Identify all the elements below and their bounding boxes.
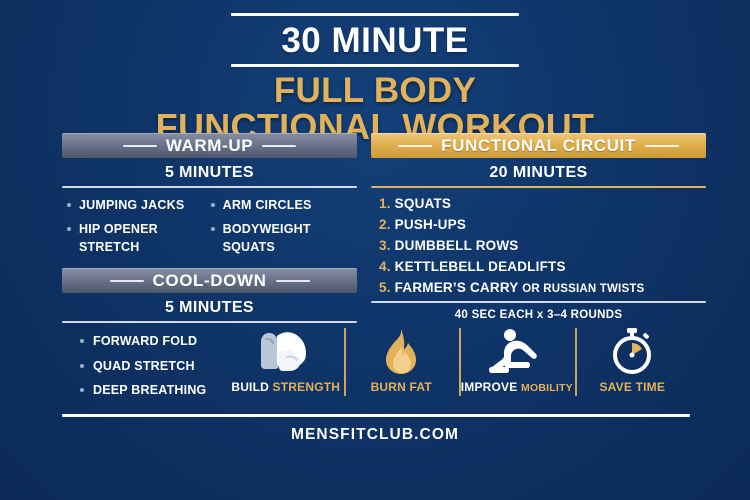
- dash-left-icon: [110, 280, 144, 282]
- benefit-label-first: IMPROVE: [461, 380, 518, 394]
- benefit-label-first: BUILD: [231, 380, 269, 394]
- dash-left-icon: [123, 145, 157, 147]
- stretching-person-icon: [486, 326, 548, 376]
- circuit-header-bar: FUNCTIONAL CIRCUIT: [371, 133, 706, 158]
- circuit-list: 1.SQUATS 2.PUSH-UPS 3.DUMBBELL ROWS 4.KE…: [371, 188, 706, 295]
- list-item: 4.KETTLEBELL DEADLIFTS: [379, 259, 706, 274]
- list-item: 5.FARMER’S CARRY OR RUSSIAN TWISTS: [379, 280, 706, 295]
- circuit-duration: 20 MINUTES: [371, 158, 706, 186]
- item-name: DUMBBELL ROWS: [395, 238, 519, 253]
- footer-divider: [62, 414, 690, 417]
- dash-left-icon: [398, 145, 432, 147]
- warmup-duration: 5 MINUTES: [62, 158, 357, 186]
- list-item: 1.SQUATS: [379, 196, 706, 211]
- cooldown-heading: COOL-DOWN: [153, 271, 267, 291]
- list-item: HIP OPENER STRETCH: [66, 221, 204, 257]
- item-name: FARMER’S CARRY: [395, 280, 519, 295]
- warmup-header-bar: WARM-UP: [62, 133, 357, 158]
- list-item: 3.DUMBBELL ROWS: [379, 238, 706, 253]
- circuit-rounds-note: 40 SEC EACH x 3–4 ROUNDS: [371, 303, 706, 321]
- footer-website: MENSFITCLUB.COM: [0, 426, 750, 444]
- benefit-label: BUILD STRENGTH: [231, 376, 340, 394]
- stopwatch-icon: [608, 326, 656, 376]
- benefit-save-time: SAVE TIME: [575, 326, 691, 394]
- dash-right-icon: [276, 280, 310, 282]
- benefit-label-second: MOBILITY: [521, 382, 573, 394]
- cooldown-duration: 5 MINUTES: [62, 293, 357, 321]
- item-number: 4.: [379, 259, 391, 274]
- benefit-improve-mobility: IMPROVE MOBILITY: [459, 326, 575, 394]
- benefit-label-second: BURN FAT: [371, 380, 432, 394]
- benefits-row: BUILD STRENGTH BURN FAT: [228, 326, 690, 394]
- dash-right-icon: [645, 145, 679, 147]
- benefit-label: SAVE TIME: [599, 376, 665, 394]
- warmup-list-right: ARM CIRCLES BODYWEIGHT SQUATS: [210, 197, 357, 262]
- flame-icon: [381, 326, 421, 376]
- title-block: 30 MINUTE FULL BODY FUNCTIONAL WORKOUT: [0, 0, 750, 146]
- item-name: PUSH-UPS: [395, 217, 466, 232]
- item-number: 2.: [379, 217, 391, 232]
- benefit-label: IMPROVE MOBILITY: [461, 376, 573, 394]
- dash-right-icon: [262, 145, 296, 147]
- workout-infographic: 30 MINUTE FULL BODY FUNCTIONAL WORKOUT W…: [0, 0, 750, 500]
- warmup-heading: WARM-UP: [166, 136, 253, 156]
- warmup-list-left: JUMPING JACKS HIP OPENER STRETCH: [66, 197, 204, 262]
- item-name: KETTLEBELL DEADLIFTS: [395, 259, 566, 274]
- warmup-list: JUMPING JACKS HIP OPENER STRETCH ARM CIR…: [62, 188, 357, 262]
- item-number: 5.: [379, 280, 391, 295]
- list-item: BODYWEIGHT SQUATS: [210, 221, 357, 257]
- list-item: ARM CIRCLES: [210, 197, 357, 215]
- title-duration: 30 MINUTE: [0, 16, 750, 64]
- item-number: 1.: [379, 196, 391, 211]
- benefit-label-second: SAVE TIME: [599, 380, 665, 394]
- title-line-1: FULL BODY: [0, 67, 750, 109]
- benefit-burn-fat: BURN FAT: [344, 326, 460, 394]
- benefit-label-second: STRENGTH: [273, 380, 341, 394]
- circuit-heading: FUNCTIONAL CIRCUIT: [441, 136, 636, 156]
- item-number: 3.: [379, 238, 391, 253]
- list-item: JUMPING JACKS: [66, 197, 204, 215]
- item-suffix: OR RUSSIAN TWISTS: [522, 283, 644, 295]
- benefit-label: BURN FAT: [371, 376, 432, 394]
- list-item: 2.PUSH-UPS: [379, 217, 706, 232]
- benefit-build-strength: BUILD STRENGTH: [228, 326, 344, 394]
- item-name: SQUATS: [395, 196, 451, 211]
- cooldown-header-bar: COOL-DOWN: [62, 268, 357, 293]
- flexed-biceps-icon: [255, 326, 317, 376]
